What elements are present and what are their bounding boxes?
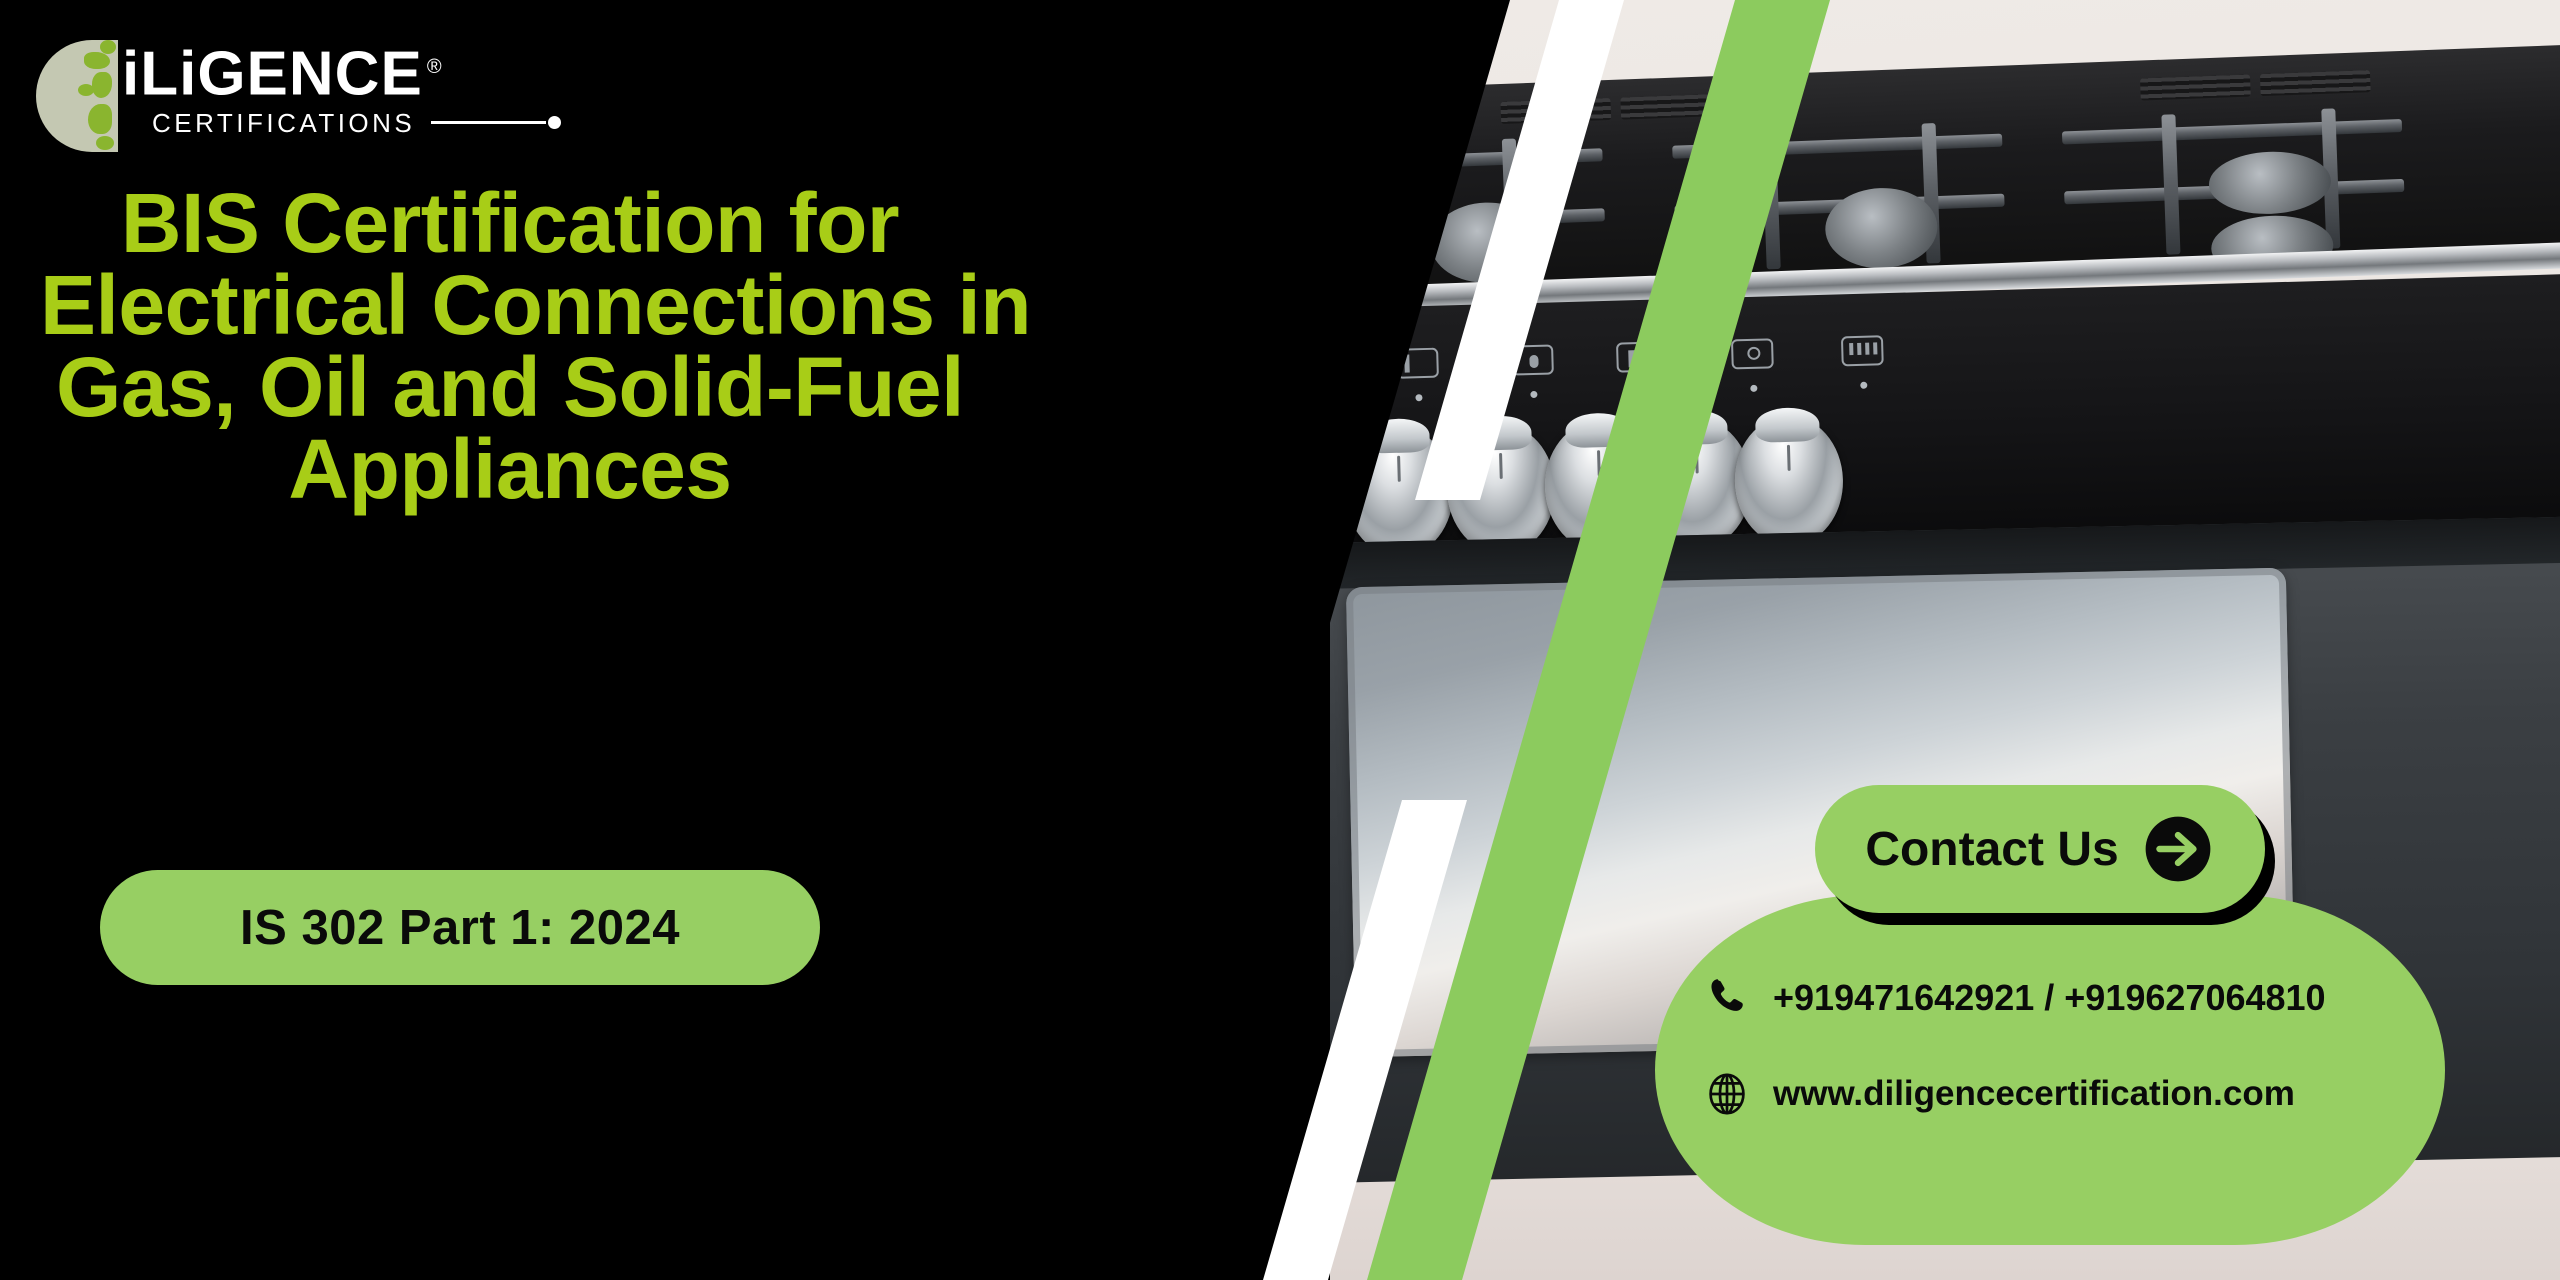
page-title: BIS Certification for Electrical Connect… [40,182,980,510]
contact-phone-row[interactable]: +919471642921 / +919627064810 [1705,975,2326,1021]
globe-icon [1703,1070,1751,1118]
cooktop-vent-right-2 [2260,70,2371,96]
standard-badge-label: IS 302 Part 1: 2024 [240,900,680,956]
phone-icon [1705,975,1751,1021]
contact-website-url: www.diligencecertification.com [1773,1074,2295,1114]
control-knob [1733,414,1845,547]
indicator-dot [1750,385,1757,392]
indicator-dot [1415,394,1422,401]
logo-divider-line [431,121,546,124]
headline-line-3: Gas, Oil and Solid-Fuel [40,346,980,428]
contact-phone-number: +919471642921 / +919627064810 [1773,977,2326,1019]
globe-landmass [100,40,116,54]
contact-us-button-wrap[interactable]: Contact Us [1815,785,2265,913]
grill-symbol-icon [1841,335,1884,366]
globe-landmass [88,104,112,134]
logo-wordmark-rest: iLiGENCE [122,40,423,109]
globe-d-icon [36,40,118,152]
contact-info-panel: +919471642921 / +919627064810 www.dilige… [1655,895,2445,1245]
standard-badge: IS 302 Part 1: 2024 [100,870,820,985]
contact-us-button-label: Contact Us [1865,822,2118,877]
promotional-banner: GRIDDLEPOSITION [0,0,2560,1280]
gas-burner [2208,150,2332,216]
globe-landmass [78,84,94,96]
logo-text-block: iLiGENCE® CERTIFICATIONS [122,36,561,136]
cooktop-vent-right [2140,75,2251,101]
contact-us-button[interactable]: Contact Us [1815,785,2265,913]
globe-landmass [84,52,110,69]
logo-divider-dot [548,116,561,129]
registered-mark-icon: ® [427,56,443,78]
indicator-dot [1530,391,1537,398]
fan-symbol-icon [1731,338,1774,369]
headline-line-1: BIS Certification for [40,182,980,264]
indicator-dot [1860,382,1867,389]
contact-website-row[interactable]: www.diligencecertification.com [1703,1070,2295,1118]
logo-subtitle: CERTIFICATIONS [152,110,415,136]
logo-wordmark: iLiGENCE® [122,36,561,106]
brand-logo[interactable]: iLiGENCE® CERTIFICATIONS [36,36,561,152]
grate-bar [2062,119,2402,144]
logo-subtitle-row: CERTIFICATIONS [122,110,561,136]
globe-landmass [96,136,114,150]
arrow-right-circle-icon [2141,812,2215,886]
headline-line-2: Electrical Connections in [40,264,980,346]
headline-line-4: Appliances [40,428,980,510]
